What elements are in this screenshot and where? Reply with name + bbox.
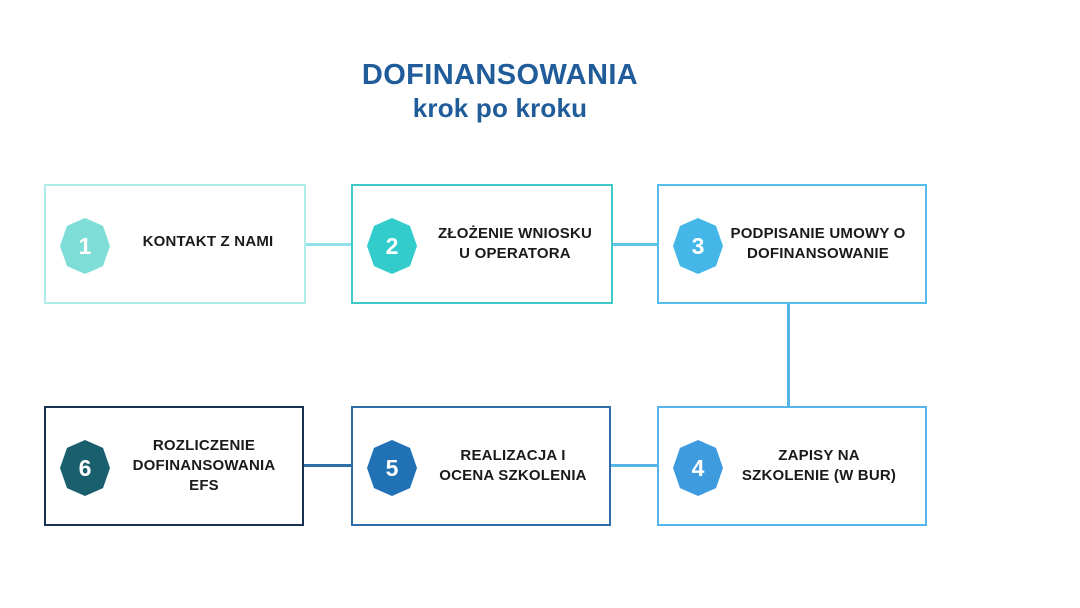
step-badge-5: 5 bbox=[367, 440, 417, 496]
connector-1-2 bbox=[305, 243, 355, 246]
step-number-3: 3 bbox=[692, 235, 705, 258]
connector-4-5 bbox=[610, 464, 662, 467]
step-number-6: 6 bbox=[79, 457, 92, 480]
step-number-5: 5 bbox=[386, 457, 399, 480]
page-title: DOFINANSOWANIA krok po kroku bbox=[0, 58, 1000, 125]
step-badge-6: 6 bbox=[60, 440, 110, 496]
step-box-3[interactable]: 3 PODPISANIE UMOWY O DOFINANSOWANIE bbox=[657, 184, 927, 304]
connector-3-4 bbox=[787, 300, 790, 410]
step-number-2: 2 bbox=[386, 235, 399, 258]
step-label-5: REALIZACJA I OCENA SZKOLENIA bbox=[421, 446, 605, 486]
title-line-primary: DOFINANSOWANIA bbox=[0, 58, 1000, 93]
step-badge-2: 2 bbox=[367, 218, 417, 274]
step-badge-1: 1 bbox=[60, 218, 110, 274]
step-label-4: ZAPISY NA SZKOLENIE (W BUR) bbox=[717, 446, 921, 486]
step-badge-4: 4 bbox=[673, 440, 723, 496]
step-number-1: 1 bbox=[79, 235, 92, 258]
step-box-2[interactable]: 2 ZŁOŻENIE WNIOSKU U OPERATORA bbox=[351, 184, 613, 304]
connector-2-3 bbox=[612, 243, 662, 246]
connector-5-6 bbox=[303, 464, 355, 467]
step-number-4: 4 bbox=[692, 457, 705, 480]
step-box-1[interactable]: 1 KONTAKT Z NAMI bbox=[44, 184, 306, 304]
infographic-canvas: DOFINANSOWANIA krok po kroku 1 KONTAKT Z… bbox=[0, 0, 1080, 608]
step-box-5[interactable]: 5 REALIZACJA I OCENA SZKOLENIA bbox=[351, 406, 611, 526]
step-label-6: ROZLICZENIE DOFINANSOWANIA EFS bbox=[116, 436, 292, 495]
step-box-6[interactable]: 6 ROZLICZENIE DOFINANSOWANIA EFS bbox=[44, 406, 304, 526]
step-label-2: ZŁOŻENIE WNIOSKU U OPERATORA bbox=[423, 224, 607, 264]
title-line-secondary: krok po kroku bbox=[0, 93, 1000, 125]
step-label-1: KONTAKT Z NAMI bbox=[120, 232, 296, 252]
step-box-4[interactable]: 4 ZAPISY NA SZKOLENIE (W BUR) bbox=[657, 406, 927, 526]
step-label-3: PODPISANIE UMOWY O DOFINANSOWANIE bbox=[715, 224, 921, 264]
